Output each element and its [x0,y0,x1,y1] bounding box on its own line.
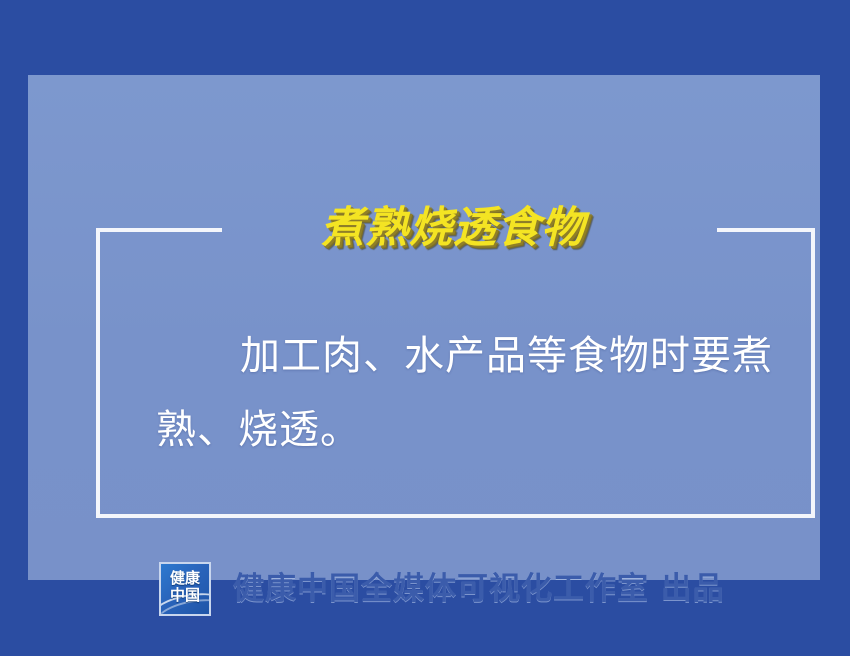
poster-canvas: 煮熟烧透食物 加工肉、水产品等食物时要煮熟、烧透。 健康 中国 健康中国全媒体可… [0,0,850,656]
frame-top-left-segment [96,228,222,232]
footer-credit-text: 健康中国全媒体可视化工作室 出品 [233,562,725,616]
poster-body-text: 加工肉、水产品等食物时要煮熟、烧透。 [156,319,796,467]
logo-text-line2: 中国 [161,587,209,604]
logo-text-line1: 健康 [161,570,209,587]
footer-credit-row: 健康 中国 健康中国全媒体可视化工作室 出品 [159,562,725,616]
content-panel: 煮熟烧透食物 加工肉、水产品等食物时要煮熟、烧透。 健康 中国 健康中国全媒体可… [28,75,820,580]
jiankang-zhongguo-logo: 健康 中国 [159,562,211,616]
frame-top-right-segment [717,228,815,232]
frame-left-segment [96,228,100,518]
logo-text: 健康 中国 [161,570,209,604]
frame-bottom-segment [96,514,815,518]
frame-right-segment [811,228,815,518]
